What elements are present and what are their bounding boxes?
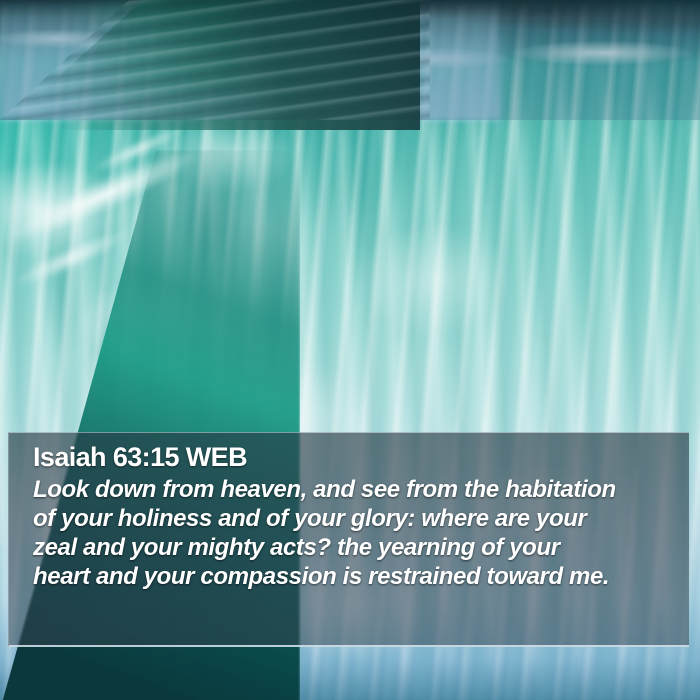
verse-text-line-1: Look down from heaven, and see from the …	[33, 475, 675, 504]
verse-text-line-3: zeal and your mighty acts? the yearning …	[33, 533, 675, 562]
verse-reference: Isaiah 63:15 WEB	[33, 441, 675, 473]
verse-image-canvas: Isaiah 63:15 WEB Look down from heaven, …	[0, 0, 700, 700]
verse-overlay-panel: Isaiah 63:15 WEB Look down from heaven, …	[8, 432, 689, 647]
verse-text-line-4: heart and your compassion is restrained …	[33, 562, 675, 591]
verse-text-line-2: of your holiness and of your glory: wher…	[33, 504, 675, 533]
verse-text: Look down from heaven, and see from the …	[33, 475, 675, 591]
